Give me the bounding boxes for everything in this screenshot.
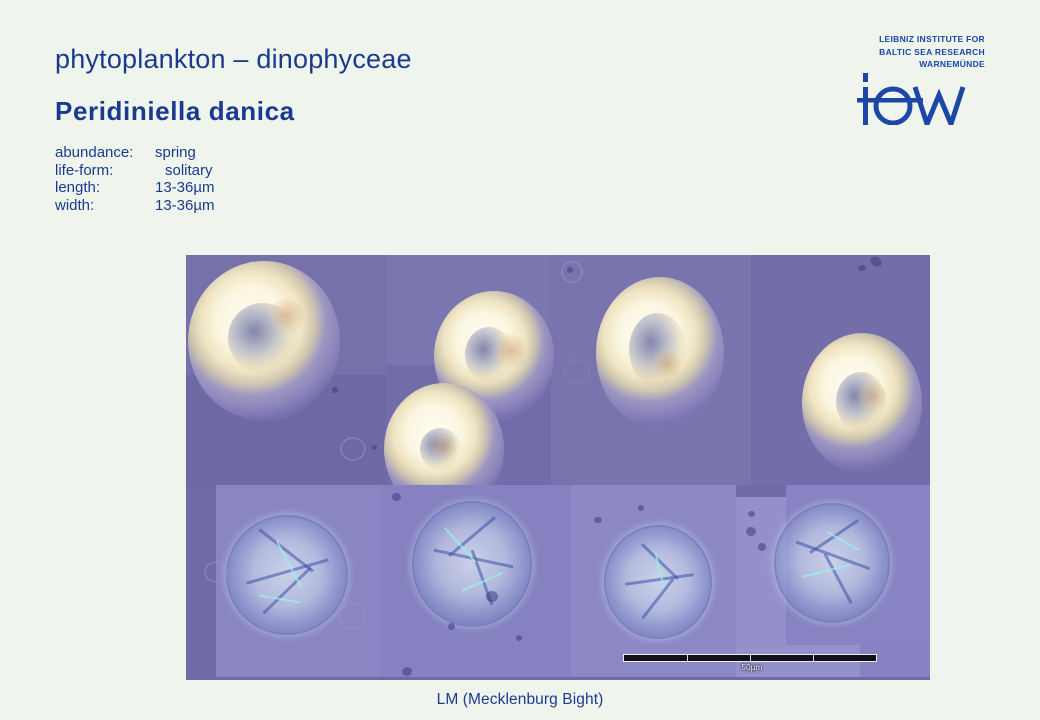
debris-speck <box>594 517 602 523</box>
scale-bar-label: 50µm <box>692 663 812 672</box>
page-title: phytoplankton – dinophyceae <box>55 44 412 75</box>
plankton-cell <box>228 517 346 633</box>
meta-key-length: length: <box>55 179 155 197</box>
debris-ring <box>564 359 590 385</box>
meta-value-abundance: spring <box>155 144 196 162</box>
debris-speck <box>567 267 573 273</box>
debris-speck <box>758 543 766 551</box>
meta-key-abundance: abundance: <box>55 144 155 162</box>
debris-speck <box>372 445 377 450</box>
debris-ring <box>338 603 366 629</box>
logo-institute-name: Leibniz Institute for Baltic Sea Researc… <box>877 33 985 71</box>
meta-value-life-form: solitary <box>155 162 213 180</box>
meta-row-length: length: 13-36µm <box>55 179 215 197</box>
plankton-cell <box>188 261 340 421</box>
debris-speck <box>486 591 498 602</box>
debris-speck <box>638 505 644 511</box>
plankton-cell <box>596 277 724 429</box>
debris-speck <box>402 667 412 676</box>
species-name: Peridiniella danica <box>55 96 295 127</box>
iow-wordmark-icon <box>857 73 985 125</box>
debris-speck <box>516 635 522 641</box>
debris-speck <box>392 493 401 501</box>
plankton-cell <box>776 505 888 621</box>
meta-row-width: width: 13-36µm <box>55 197 215 215</box>
meta-value-width: 13-36µm <box>155 197 215 215</box>
species-metadata: abundance: spring life-form: solitary le… <box>55 144 215 214</box>
figure-caption: LM (Mecklenburg Bight) <box>0 691 1040 709</box>
debris-speck <box>748 511 755 517</box>
logo-line-1: Leibniz Institute for <box>877 33 985 46</box>
micrograph-montage: 50µm <box>186 255 930 680</box>
logo-line-2: Baltic Sea Research <box>877 46 985 59</box>
logo-line-3: Warnemünde <box>877 58 985 71</box>
meta-value-length: 13-36µm <box>155 179 215 197</box>
plankton-cell <box>606 527 710 637</box>
debris-speck <box>448 623 455 630</box>
debris-ring <box>340 437 366 461</box>
plankton-cell <box>802 333 922 473</box>
debris-speck <box>746 527 756 536</box>
debris-speck <box>332 387 338 393</box>
iow-logo: Leibniz Institute for Baltic Sea Researc… <box>795 33 985 125</box>
meta-row-abundance: abundance: spring <box>55 144 215 162</box>
debris-ring <box>204 561 228 583</box>
slide-root: phytoplankton – dinophyceae Peridiniella… <box>0 0 1040 720</box>
scale-bar-ticks <box>624 655 876 661</box>
meta-key-life-form: life-form: <box>55 162 155 180</box>
meta-row-life-form: life-form: solitary <box>55 162 215 180</box>
meta-key-width: width: <box>55 197 155 215</box>
plankton-cell <box>414 503 530 625</box>
